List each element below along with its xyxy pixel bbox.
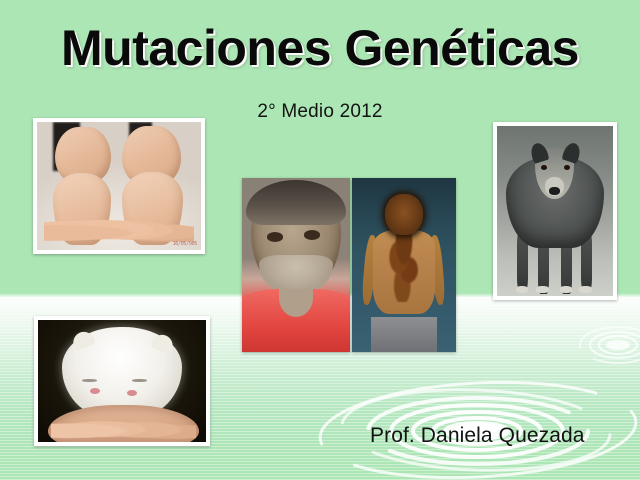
two-headed-kitten-photo bbox=[34, 316, 210, 446]
presentation-slide: 16/05/905 bbox=[0, 0, 640, 480]
author-name: Prof. Daniela Quezada bbox=[370, 424, 585, 448]
polydactyly-photo-content: 16/05/905 bbox=[37, 122, 201, 250]
polydactyly-photo: 16/05/905 bbox=[33, 118, 205, 254]
ichthyosis-body-photo-content bbox=[352, 178, 456, 352]
ichthyosis-body-photo bbox=[352, 178, 456, 352]
two-headed-kitten-photo-content bbox=[38, 320, 206, 442]
slide-subtitle: 2° Medio 2012 bbox=[0, 101, 640, 123]
bully-whippet-dog-photo-content bbox=[497, 126, 613, 296]
ichthyosis-face-photo-content bbox=[242, 178, 350, 352]
bully-whippet-dog-photo bbox=[493, 122, 617, 300]
photo-date-stamp: 16/05/905 bbox=[173, 241, 197, 247]
slide-title: Mutaciones Genéticas bbox=[0, 22, 640, 75]
ichthyosis-face-photo bbox=[242, 178, 350, 352]
